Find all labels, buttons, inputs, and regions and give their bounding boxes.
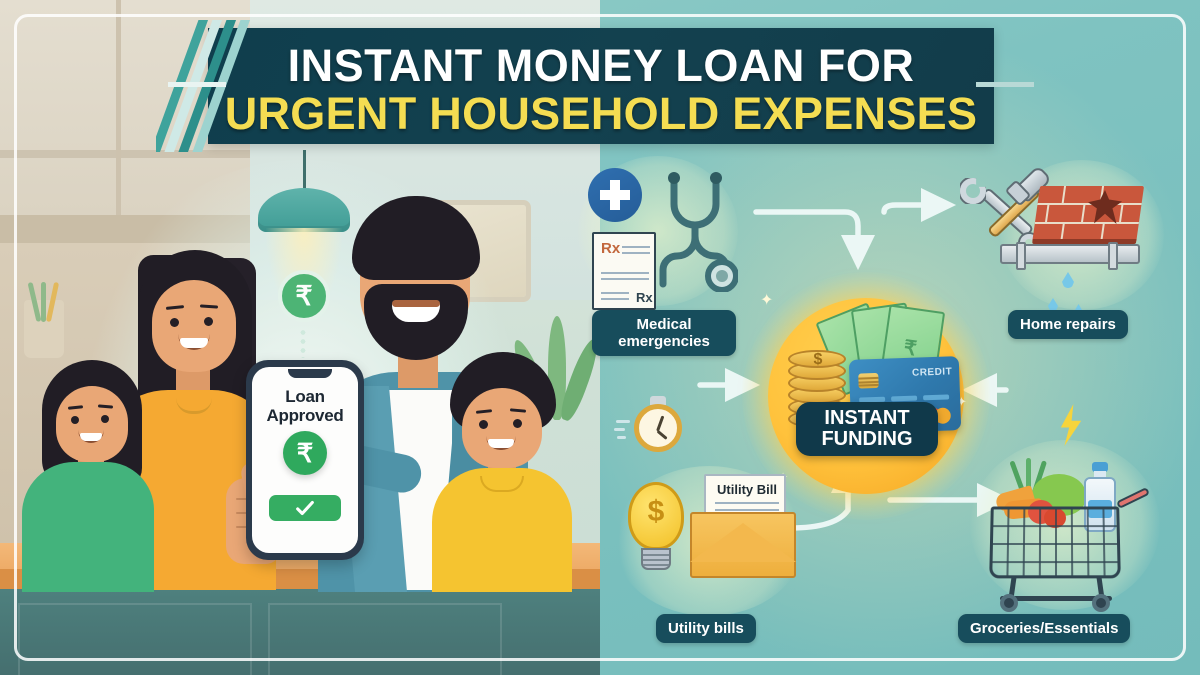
lightbulb-icon: $ (628, 482, 684, 550)
label-line: Medical (604, 316, 724, 333)
cart-handle (1116, 487, 1150, 509)
cart-wheel (1000, 594, 1018, 612)
rupee-coin-icon: ₹ (278, 270, 330, 322)
phone-notch (288, 369, 332, 378)
card-chip (858, 373, 879, 389)
title-dash-right (976, 82, 1034, 87)
cart-basket (989, 507, 1121, 579)
label-medical-emergencies: Medical emergencies (592, 310, 736, 356)
stethoscope-icon (652, 172, 738, 292)
label-line: emergencies (604, 333, 724, 350)
daughter-face (56, 386, 128, 462)
hub-label: INSTANT FUNDING (796, 402, 938, 456)
prescription-rx-label: Rx (601, 240, 620, 257)
father-hair (352, 196, 480, 280)
prescription-icon: Rx Rx (592, 232, 656, 310)
dollar-icon: $ (648, 495, 665, 529)
label-line: Groceries/Essentials (970, 620, 1118, 637)
brick-wall-icon (1032, 186, 1144, 244)
mother-face (152, 280, 236, 372)
smartphone[interactable]: Loan Approved ₹ (246, 360, 364, 560)
daughter-body (22, 462, 154, 592)
coin-dollar-symbol: $ (808, 350, 828, 370)
check-icon (294, 497, 316, 519)
loan-approved-text: Loan Approved (252, 387, 358, 425)
loan-approved-line2: Approved (252, 406, 358, 425)
cart-wheel (1092, 594, 1110, 612)
hub-label-line2: FUNDING (800, 429, 934, 450)
bulb-base (641, 548, 671, 570)
sparkle-icon: ✦ (760, 290, 773, 310)
leaking-pipe-icon (1000, 244, 1140, 264)
phone-screen[interactable]: Loan Approved ₹ (252, 367, 358, 553)
utility-bill-title: Utility Bill (706, 482, 788, 497)
label-line: Home repairs (1020, 316, 1116, 333)
confirm-button[interactable] (269, 495, 341, 521)
label-utility-bills: Utility bills (656, 614, 756, 643)
father-beard (364, 284, 468, 360)
shopping-cart-icon (980, 450, 1150, 610)
title-banner: INSTANT MONEY LOAN FOR URGENT HOUSEHOLD … (208, 28, 994, 144)
prescription-rx-label-2: Rx (636, 290, 653, 305)
label-groceries-essentials: Groceries/Essentials (958, 614, 1130, 643)
hub-label-line1: INSTANT (800, 408, 934, 429)
loan-approved-line1: Loan (252, 387, 358, 406)
coin-trail-dots (300, 328, 306, 358)
label-line: Utility bills (668, 620, 744, 637)
son-face (462, 388, 542, 468)
father-upper-lip (392, 300, 440, 307)
title-line-1: INSTANT MONEY LOAN FOR (208, 42, 994, 89)
title-dash-left (168, 82, 226, 87)
phone-rupee-badge: ₹ (283, 431, 327, 475)
card-label: CREDIT (912, 366, 953, 378)
clock-icon (634, 404, 682, 452)
medical-cross-icon (588, 168, 642, 222)
infographic-canvas: ₹ Loan Approved ₹ (0, 0, 1200, 675)
title-line-2: URGENT HOUSEHOLD EXPENSES (208, 90, 994, 137)
label-home-repairs: Home repairs (1008, 310, 1128, 339)
envelope-icon: Utility Bill (690, 500, 796, 578)
